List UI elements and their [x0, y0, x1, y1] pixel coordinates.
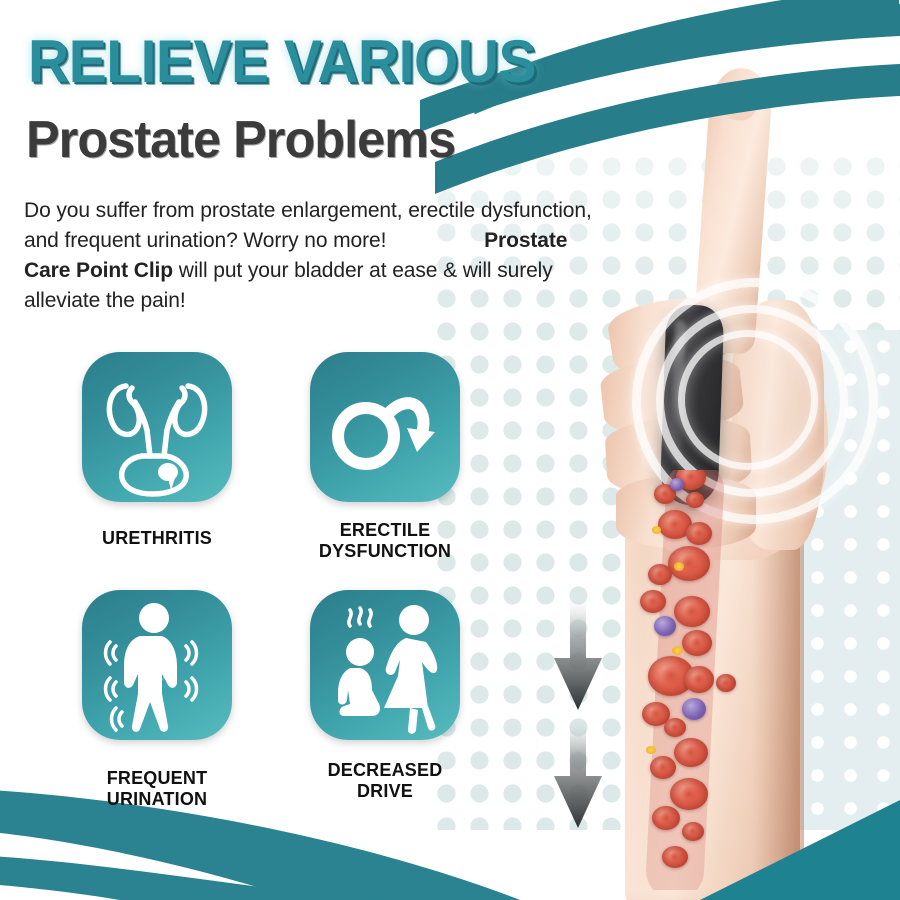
red-blood-cell [686, 522, 712, 545]
couple-rejection-icon [310, 590, 460, 740]
down-arrow-icon [548, 718, 608, 830]
symptom-label-decreased-drive: DECREASED DRIVE [285, 760, 485, 802]
blood-cell-stream [630, 470, 765, 890]
symptom-label-erectile-dysfunction: ERECTILE DYSFUNCTION [285, 520, 485, 562]
symptom-label-urethritis: URETHRITIS [57, 528, 257, 549]
down-arrow-icon [548, 600, 608, 712]
symptom-card-urethritis[interactable] [82, 352, 232, 502]
red-blood-cell [684, 666, 714, 693]
male-symbol-drooping-arrow-icon [310, 352, 460, 502]
red-blood-cell [686, 492, 704, 508]
poster-root: RELIEVE VARIOUS Prostate Problems Do you… [0, 0, 900, 900]
red-blood-cell [640, 590, 666, 613]
page-subtitle: Prostate Problems [26, 112, 455, 168]
red-blood-cell [716, 674, 736, 692]
red-blood-cell [650, 756, 676, 779]
platelet [646, 746, 656, 754]
page-title: RELIEVE VARIOUS [28, 32, 536, 92]
bladder-kidneys-icon [82, 352, 232, 502]
platelet [652, 526, 661, 534]
red-blood-cell [674, 596, 710, 627]
symptom-label-frequent-urination: FREQUENT URINATION [57, 768, 257, 810]
symptom-card-frequent-urination[interactable] [82, 590, 232, 740]
symptom-card-erectile-dysfunction[interactable] [310, 352, 460, 502]
symptom-card-decreased-drive[interactable] [310, 590, 460, 740]
red-blood-cell [664, 718, 686, 737]
red-blood-cell [662, 846, 688, 868]
red-blood-cell [682, 630, 712, 656]
red-blood-cell [648, 564, 672, 585]
red-blood-cell [652, 806, 680, 830]
platelet [672, 646, 683, 655]
red-blood-cell [674, 738, 708, 767]
body-copy: Do you suffer from prostate enlargement,… [24, 196, 614, 316]
fingernail [720, 79, 759, 121]
ripple-ring-inner [678, 330, 818, 470]
white-blood-cell [682, 698, 706, 720]
white-blood-cell [670, 478, 684, 491]
red-blood-cell [670, 778, 708, 810]
red-blood-cell [682, 822, 704, 841]
white-blood-cell [654, 616, 676, 636]
hand-photo [520, 0, 900, 900]
person-holding-bladder-icon [82, 590, 232, 740]
platelet [674, 562, 684, 571]
